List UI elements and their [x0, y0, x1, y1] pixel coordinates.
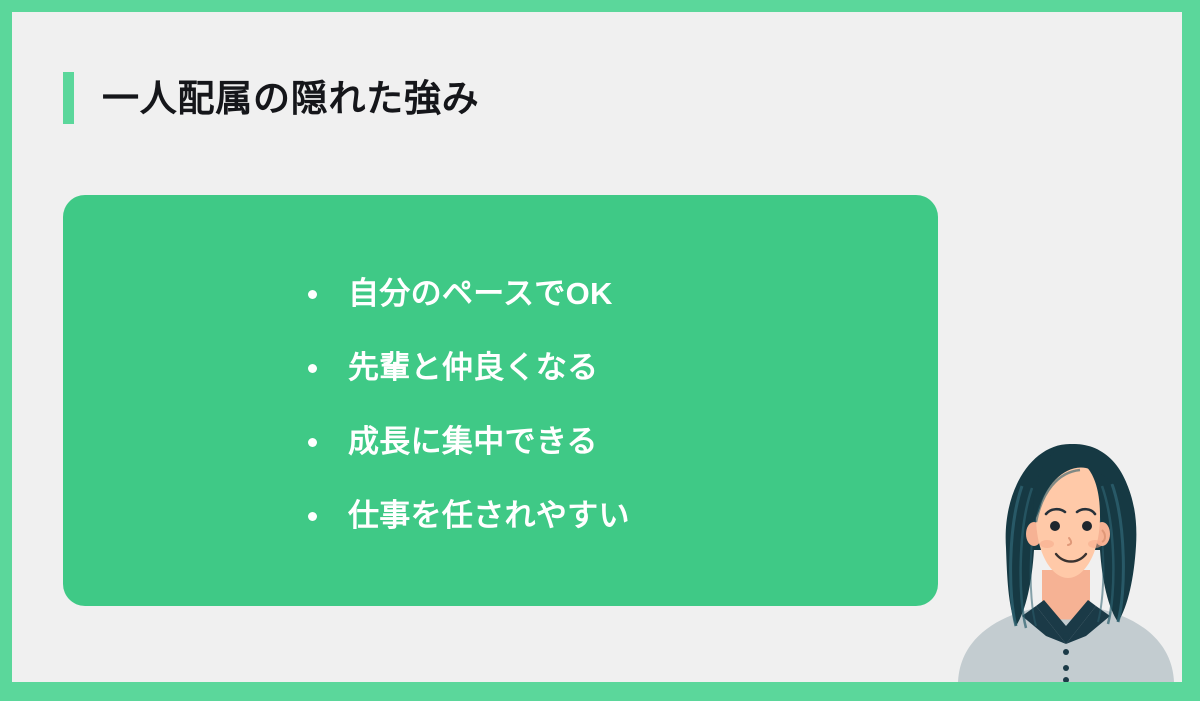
list-item-label: 先輩と仲良くなる [348, 351, 598, 385]
list-item-label: 自分のペースでOK [348, 277, 613, 311]
bullet-dot-icon [308, 438, 317, 447]
list-item-label: 仕事を任されやすい [348, 499, 630, 533]
frame-border-top [0, 0, 1200, 12]
bullet-dot-icon [308, 290, 317, 299]
frame-border-left [0, 0, 12, 701]
slide-root: 一人配属の隠れた強み 自分のペースでOK 先輩と仲良くなる 成長に集中できる 仕… [0, 0, 1200, 701]
page-title: 一人配属の隠れた強み [102, 80, 479, 117]
page-title-row: 一人配属の隠れた強み [63, 72, 479, 124]
frame-border-right [1182, 0, 1200, 701]
frame-border-bottom [0, 682, 1200, 701]
list-item: 成長に集中できる [308, 405, 630, 479]
list-item: 先輩と仲良くなる [308, 331, 630, 405]
list-item-label: 成長に集中できる [348, 425, 598, 459]
benefits-list: 自分のペースでOK 先輩と仲良くなる 成長に集中できる 仕事を任されやすい [308, 257, 630, 553]
list-item: 仕事を任されやすい [308, 479, 630, 553]
content-card: 自分のペースでOK 先輩と仲良くなる 成長に集中できる 仕事を任されやすい [63, 195, 938, 606]
bullet-dot-icon [308, 512, 317, 521]
smiling-woman-illustration [950, 430, 1182, 682]
bullet-dot-icon [308, 364, 317, 373]
list-item: 自分のペースでOK [308, 257, 630, 331]
title-accent-bar [63, 72, 74, 124]
